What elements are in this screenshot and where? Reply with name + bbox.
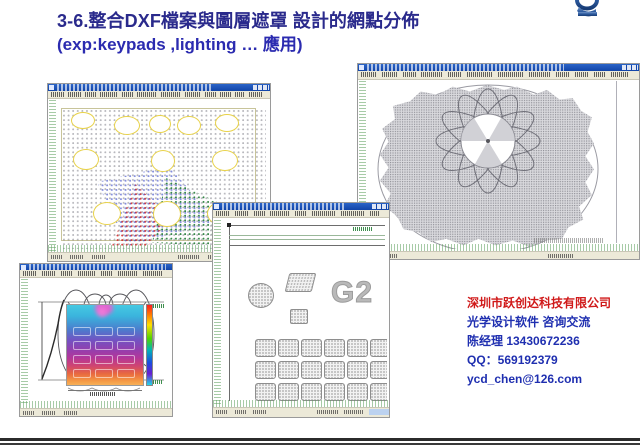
ruler-vertical	[214, 220, 221, 405]
keypad-key[interactable]	[255, 383, 276, 401]
mask-ellipse	[149, 115, 171, 133]
rosette-pattern-window[interactable]	[357, 63, 640, 260]
plot-canvas[interactable]	[28, 284, 170, 404]
plot-canvas[interactable]: G2	[221, 221, 387, 403]
g2-logo-icon	[570, 0, 604, 24]
key-round[interactable]	[248, 283, 274, 308]
key-small-square[interactable]	[290, 309, 308, 324]
window-buttons[interactable]	[372, 204, 388, 209]
panel-divider	[616, 81, 617, 243]
titlebar[interactable]	[358, 64, 639, 71]
company-name: 深圳市跃创达科技有限公司	[467, 294, 637, 313]
menubar[interactable]	[48, 91, 270, 99]
contact-info: 深圳市跃创达科技有限公司 光学设计软件 咨询交流 陈经理 13430672236…	[467, 294, 637, 389]
app-icon	[359, 65, 364, 70]
brand-label: G2	[331, 276, 373, 310]
dimension-label	[353, 227, 373, 231]
keypad-key[interactable]	[324, 383, 345, 401]
mask-ellipse	[93, 202, 121, 225]
hotspot	[97, 307, 107, 317]
illuminance-heatmap-window[interactable]	[19, 263, 173, 417]
canvas-caption	[534, 238, 604, 243]
keypad-key[interactable]	[347, 339, 368, 357]
app-icon	[214, 204, 219, 209]
ruler-horizontal	[358, 244, 639, 251]
keypad-key[interactable]	[370, 383, 387, 401]
titlebar-text	[222, 203, 345, 210]
keypad-key[interactable]	[278, 383, 299, 401]
ruler-horizontal	[213, 400, 389, 407]
keypad-layout-window[interactable]: G2	[212, 202, 390, 418]
keypad-key[interactable]	[324, 339, 345, 357]
keypad-key[interactable]	[278, 339, 299, 357]
page-title: 3-6.整合DXF檔案與圖層遮罩 設計的網點分佈 (exp:keypads ,l…	[57, 10, 527, 56]
mask-ellipse	[71, 112, 95, 129]
title-line-2: (exp:keypads ,lighting … 應用)	[57, 34, 527, 56]
app-icon	[49, 85, 54, 90]
slide-bottom-border-2	[0, 443, 640, 445]
origin-marker	[227, 223, 231, 227]
titlebar[interactable]	[48, 84, 270, 91]
axis-top-line	[229, 225, 385, 226]
key-parallelogram[interactable]	[285, 273, 317, 292]
menubar[interactable]	[358, 71, 639, 80]
keypad-key[interactable]	[301, 383, 322, 401]
mask-ellipse	[151, 150, 175, 172]
slide-bottom-border	[0, 438, 640, 441]
titlebar[interactable]	[213, 203, 389, 210]
statusbar	[213, 407, 389, 417]
contact-qq: QQ：569192379	[467, 351, 637, 370]
titlebar-text	[57, 84, 212, 91]
statusbar	[20, 408, 172, 416]
colorbar-min-label	[153, 380, 163, 384]
keypad-key[interactable]	[347, 361, 368, 379]
contact-email: ycd_chen@126.com	[467, 370, 637, 389]
guide-line-3	[229, 245, 385, 246]
keypad-key[interactable]	[301, 339, 322, 357]
title-line-1: 3-6.整合DXF檔案與圖層遮罩 設計的網點分佈	[57, 10, 527, 32]
dimension-line	[68, 390, 142, 391]
colorbar-max-label	[153, 304, 165, 308]
titlebar-text	[367, 64, 564, 71]
keypad-key[interactable]	[255, 339, 276, 357]
mask-ellipse	[212, 150, 238, 171]
rosette-petals	[423, 87, 553, 195]
ruler-vertical	[21, 279, 28, 405]
contact-person: 陈经理 13430672236	[467, 332, 637, 351]
guide-line-2	[229, 239, 385, 240]
plot-canvas[interactable]	[366, 83, 639, 249]
mask-ellipse	[177, 116, 201, 135]
mask-ellipse	[215, 114, 239, 132]
keypad-key[interactable]	[324, 361, 345, 379]
menubar[interactable]	[20, 270, 172, 278]
menubar[interactable]	[213, 210, 389, 218]
statusbar	[358, 251, 639, 259]
keypad-key[interactable]	[347, 383, 368, 401]
window-buttons[interactable]	[622, 65, 638, 70]
guide-line-1	[229, 235, 385, 236]
axis-vertical	[229, 225, 230, 401]
keypad-key[interactable]	[370, 339, 387, 357]
mask-ellipse	[153, 201, 181, 227]
ruler-vertical	[49, 100, 56, 252]
mask-ellipse	[114, 116, 140, 135]
heatmap-body	[66, 304, 144, 386]
window-buttons[interactable]	[253, 85, 269, 90]
keypad-key[interactable]	[301, 361, 322, 379]
dimension-value	[90, 392, 116, 396]
keypad-key[interactable]	[278, 361, 299, 379]
mask-ellipse	[73, 149, 99, 170]
colorbar	[146, 304, 153, 386]
slide-canvas: 3-6.整合DXF檔案與圖層遮罩 設計的網點分佈 (exp:keypads ,l…	[0, 0, 640, 447]
ruler-horizontal	[20, 401, 172, 408]
business-line: 光学设计软件 咨询交流	[467, 313, 637, 332]
keypad-key[interactable]	[255, 361, 276, 379]
keypad-key[interactable]	[370, 361, 387, 379]
